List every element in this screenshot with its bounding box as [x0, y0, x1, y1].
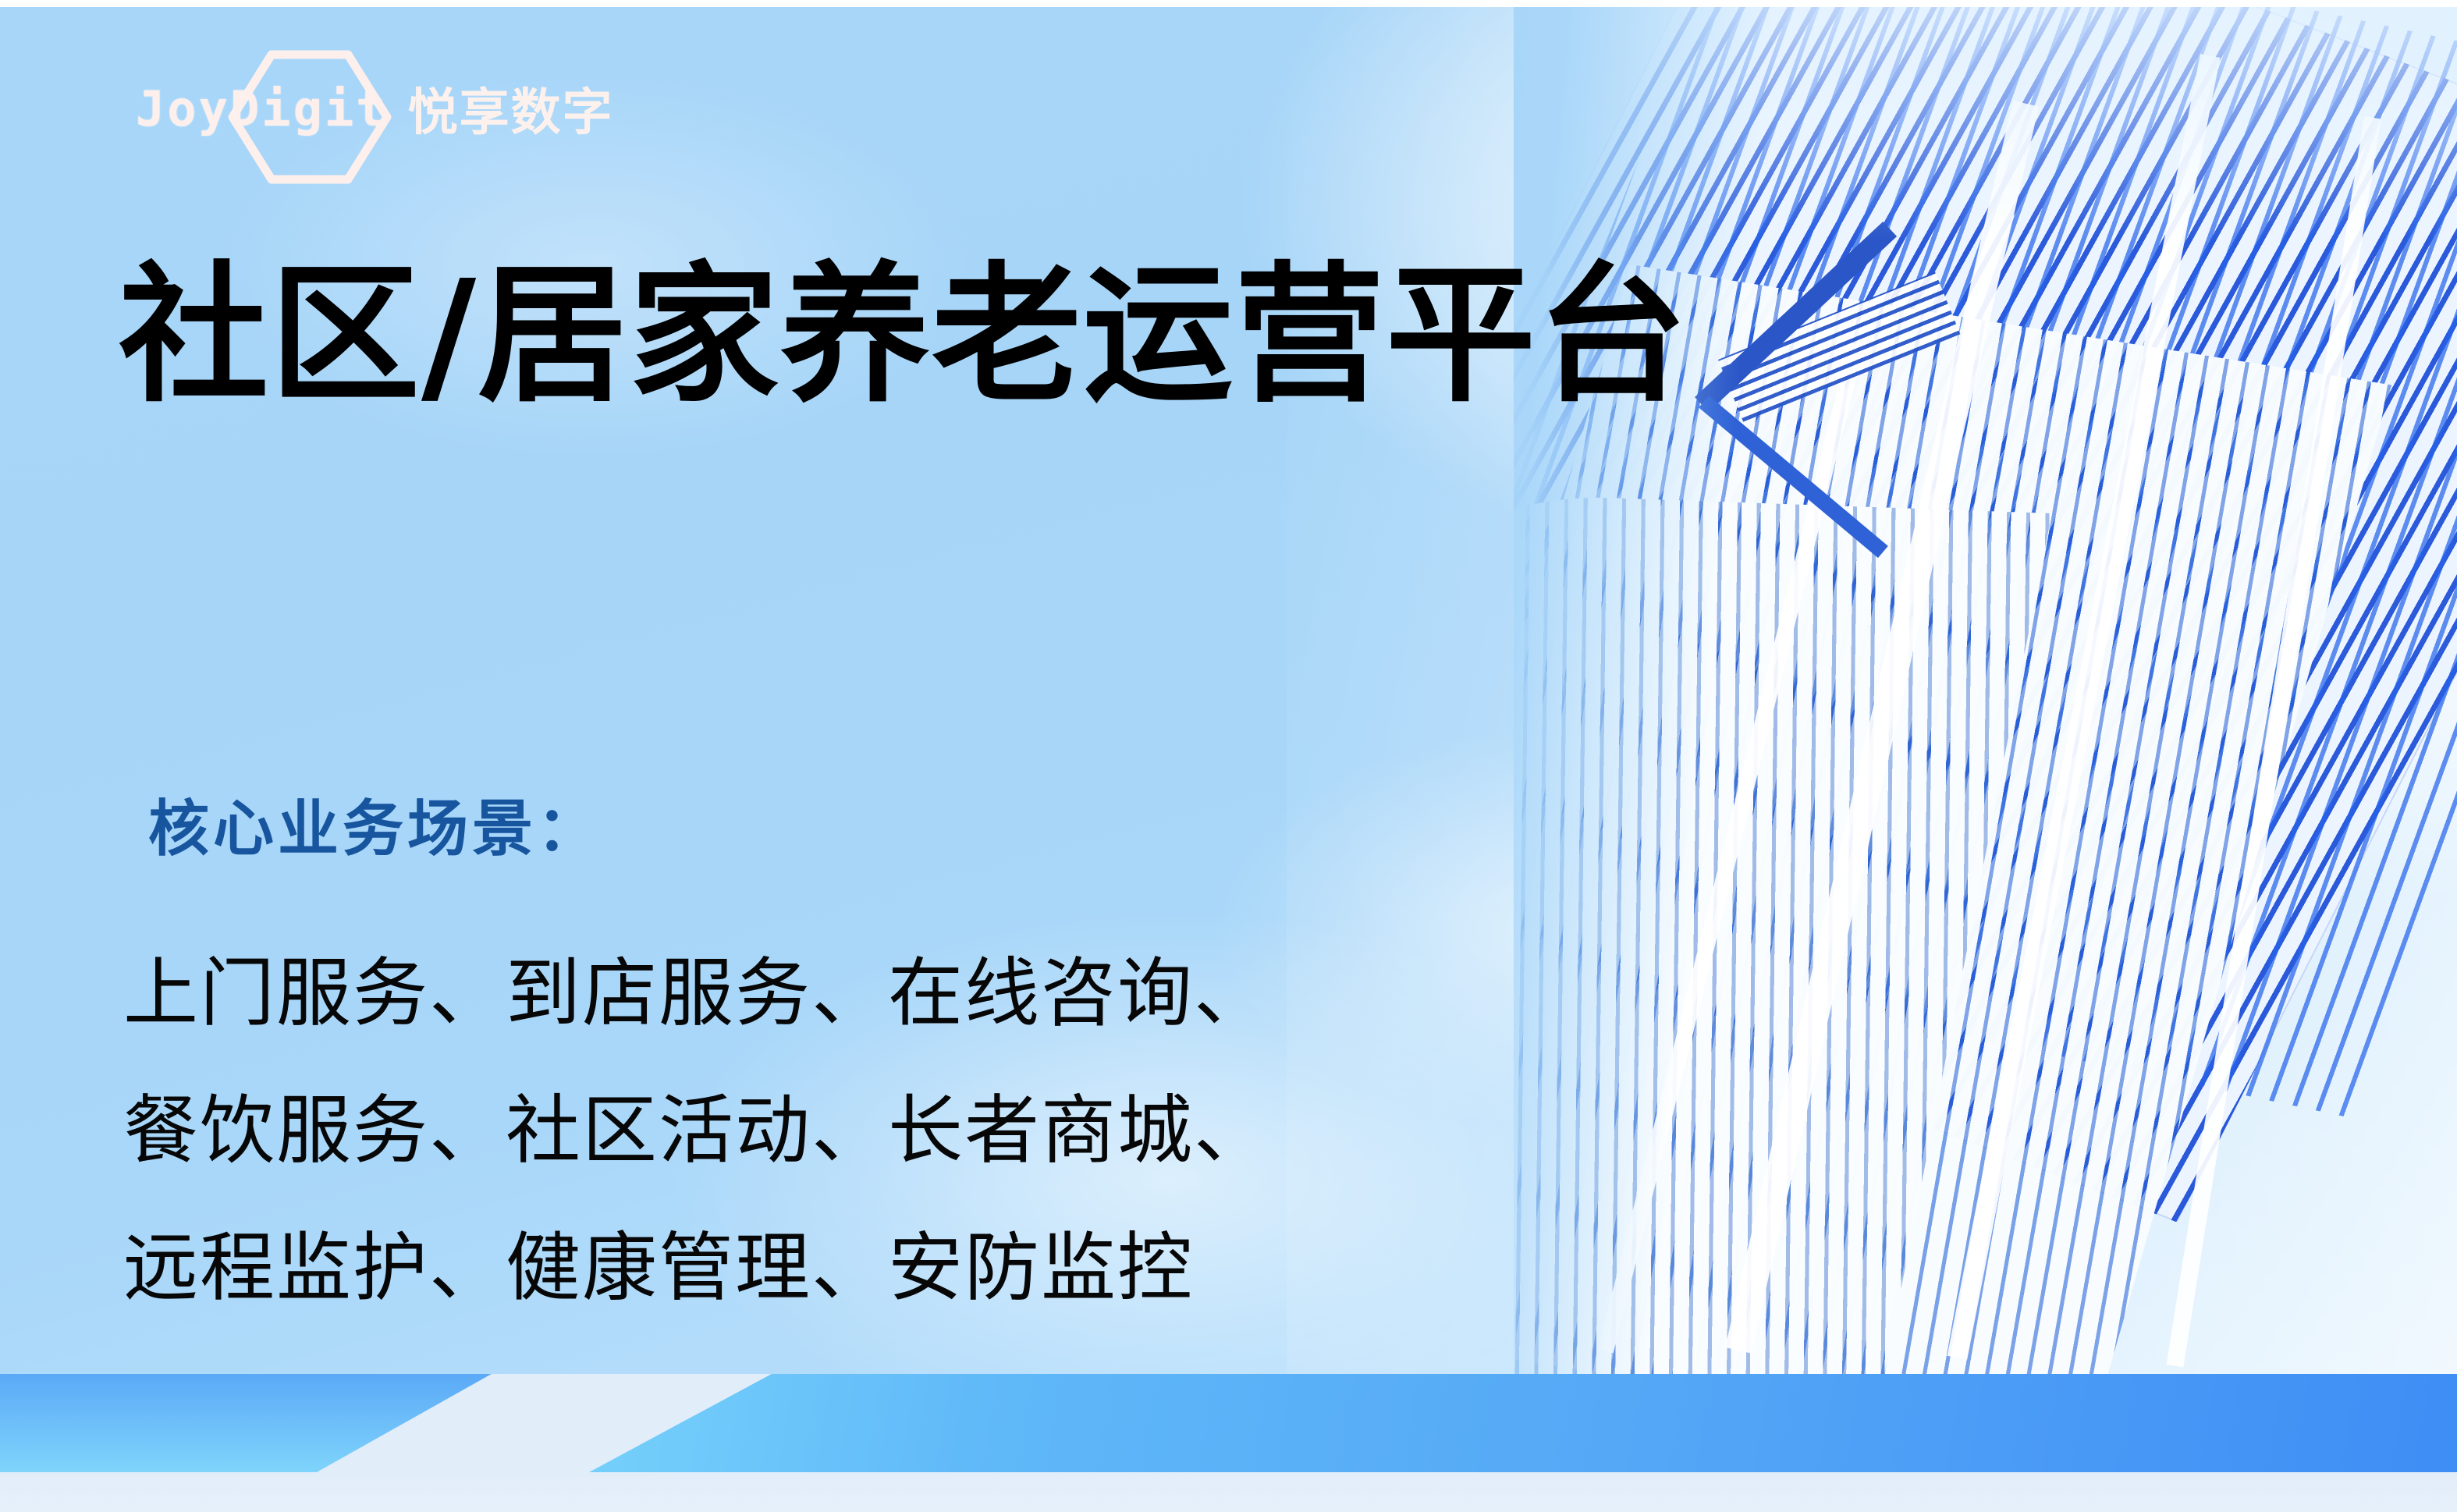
page-title: 社区/居家养老运营平台: [119, 261, 1688, 411]
body-line: 餐饮服务、社区活动、长者商城、: [123, 1062, 1270, 1199]
body-line: 远程监护、健康管理、安防监控: [123, 1199, 1270, 1336]
body-line: 上门服务、到店服务、在线咨询、: [123, 925, 1270, 1062]
slide-canvas: JoyDigit 悦享数字 社区/居家养老运营平台 核心业务场景： 上门服务、到…: [0, 0, 2457, 1512]
top-edge-strip: [0, 0, 2457, 7]
bottom-decorative-band: [0, 1374, 2457, 1512]
section-heading: 核心业务场景：: [148, 780, 602, 868]
brand-logo: JoyDigit 悦享数字: [136, 72, 614, 145]
business-scenario-list: 上门服务、到店服务、在线咨询、 餐饮服务、社区活动、长者商城、 远程监护、健康管…: [123, 925, 1270, 1336]
logo-latin-text: JoyDigit: [136, 80, 388, 137]
logo-chinese-text: 悦享数字: [408, 73, 614, 144]
band-lower-strip: [0, 1472, 2457, 1512]
skyscraper-photo: [1514, 7, 2457, 1374]
